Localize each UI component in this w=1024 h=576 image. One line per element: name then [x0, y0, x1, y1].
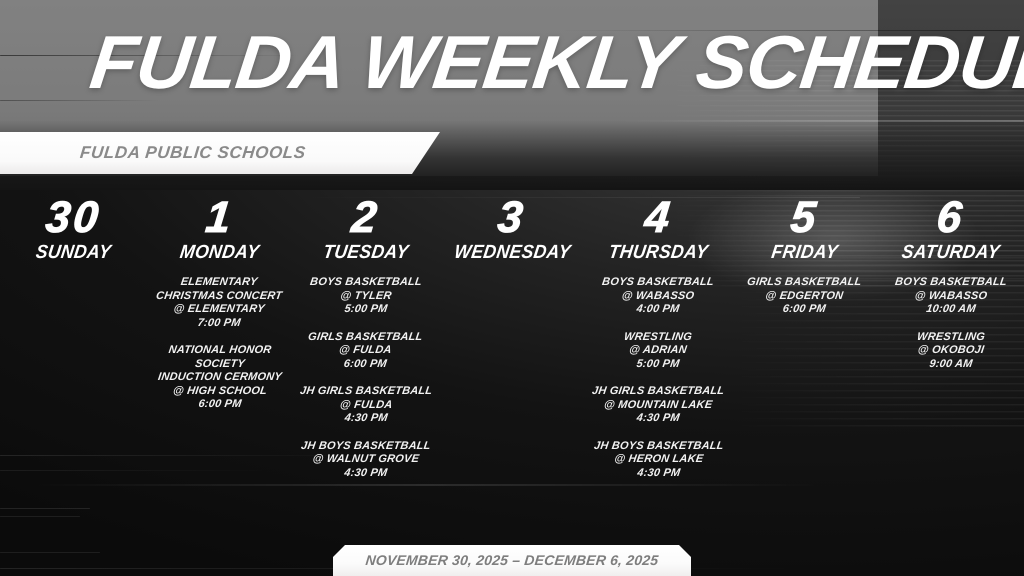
event-entry: NATIONAL HONORSOCIETYINDUCTION CERMONY@ …: [158, 344, 282, 412]
event-line: BOYS BASKETBALL: [894, 276, 1008, 290]
event-line: 6:00 PM: [157, 398, 283, 412]
event-entry: BOYS BASKETBALL@ WABASSO10:00 AM: [895, 276, 1007, 317]
event-line: @ HERON LAKE: [593, 453, 724, 467]
event-line: BOYS BASKETBALL: [309, 276, 423, 290]
event-line: 6:00 PM: [746, 303, 862, 317]
day-column-saturday: 6SATURDAYBOYS BASKETBALL@ WABASSO10:00 A…: [878, 196, 1024, 526]
event-entry: GIRLS BASKETBALL@ FULDA6:00 PM: [308, 331, 422, 372]
event-line: JH GIRLS BASKETBALL: [591, 385, 725, 399]
event-line: GIRLS BASKETBALL: [308, 331, 424, 345]
event-line: @ ADRIAN: [623, 344, 693, 358]
event-line: INDUCTION CERMONY: [157, 371, 283, 385]
day-column-monday: 1MONDAYELEMENTARYCHRISTMAS CONCERT@ ELEM…: [146, 196, 292, 526]
day-name: WEDNESDAY: [452, 242, 571, 264]
day-column-sunday: 30SUNDAY: [0, 196, 146, 526]
event-list: BOYS BASKETBALL@ WABASSO4:00 PMWRESTLING…: [589, 276, 727, 480]
event-line: @ EDGERTON: [746, 290, 862, 304]
day-number: 5: [788, 196, 820, 240]
event-line: JH BOYS BASKETBALL: [300, 440, 431, 454]
day-name: THURSDAY: [607, 242, 709, 264]
event-line: JH GIRLS BASKETBALL: [299, 385, 433, 399]
day-number: 30: [43, 196, 103, 240]
event-entry: WRESTLING@ OKOBOJI9:00 AM: [917, 331, 985, 372]
event-line: 4:30 PM: [593, 467, 724, 481]
day-number: 1: [203, 196, 235, 240]
event-list: GIRLS BASKETBALL@ EDGERTON6:00 PM: [735, 276, 873, 317]
event-line: CHRISTMAS CONCERT: [155, 290, 283, 304]
event-entry: BOYS BASKETBALL@ TYLER5:00 PM: [310, 276, 422, 317]
event-line: 4:00 PM: [601, 303, 715, 317]
event-line: @ WALNUT GROVE: [300, 453, 431, 467]
event-list: BOYS BASKETBALL@ TYLER5:00 PMGIRLS BASKE…: [297, 276, 435, 480]
event-entry: ELEMENTARYCHRISTMAS CONCERT@ ELEMENTARY7…: [156, 276, 282, 330]
day-number: 6: [935, 196, 967, 240]
event-line: WRESTLING: [916, 331, 986, 345]
event-line: GIRLS BASKETBALL: [746, 276, 862, 290]
event-line: 4:30 PM: [300, 467, 431, 481]
day-column-thursday: 4THURSDAYBOYS BASKETBALL@ WABASSO4:00 PM…: [585, 196, 731, 526]
event-line: BOYS BASKETBALL: [601, 276, 715, 290]
day-name: SATURDAY: [900, 242, 1001, 264]
event-line: 6:00 PM: [308, 358, 424, 372]
event-line: 9:00 AM: [916, 358, 986, 372]
event-line: 7:00 PM: [155, 317, 283, 331]
event-line: 10:00 AM: [894, 303, 1008, 317]
event-line: @ WABASSO: [601, 290, 715, 304]
day-column-wednesday: 3WEDNESDAY: [439, 196, 585, 526]
event-line: 4:30 PM: [591, 412, 725, 426]
subtitle-text: FULDA PUBLIC SCHOOLS: [79, 143, 307, 163]
schedule-graphic: FULDA WEEKLY SCHEDULE FULDA PUBLIC SCHOO…: [0, 0, 1024, 576]
event-entry: JH BOYS BASKETBALL@ WALNUT GROVE4:30 PM: [301, 440, 431, 481]
event-line: WRESTLING: [623, 331, 693, 345]
event-list: ELEMENTARYCHRISTMAS CONCERT@ ELEMENTARY7…: [150, 276, 288, 412]
event-line: @ FULDA: [308, 344, 424, 358]
page-title: FULDA WEEKLY SCHEDULE: [86, 22, 1024, 102]
event-line: @ ELEMENTARY: [155, 303, 283, 317]
week-grid: 30SUNDAY1MONDAYELEMENTARYCHRISTMAS CONCE…: [0, 196, 1024, 526]
day-name: MONDAY: [178, 242, 260, 264]
event-line: @ OKOBOJI: [916, 344, 986, 358]
event-line: @ WABASSO: [894, 290, 1008, 304]
event-line: @ MOUNTAIN LAKE: [591, 399, 725, 413]
event-entry: JH GIRLS BASKETBALL@ FULDA4:30 PM: [300, 385, 432, 426]
event-line: @ TYLER: [309, 290, 423, 304]
event-line: @ HIGH SCHOOL: [157, 385, 283, 399]
event-line: SOCIETY: [157, 358, 283, 372]
day-name: FRIDAY: [770, 242, 839, 264]
event-entry: GIRLS BASKETBALL@ EDGERTON6:00 PM: [747, 276, 861, 317]
day-number: 4: [642, 196, 674, 240]
event-line: JH BOYS BASKETBALL: [593, 440, 724, 454]
event-line: 5:00 PM: [309, 303, 423, 317]
event-list: BOYS BASKETBALL@ WABASSO10:00 AMWRESTLIN…: [882, 276, 1020, 371]
day-name: SUNDAY: [34, 242, 112, 264]
day-column-friday: 5FRIDAYGIRLS BASKETBALL@ EDGERTON6:00 PM: [731, 196, 877, 526]
event-entry: JH BOYS BASKETBALL@ HERON LAKE4:30 PM: [594, 440, 724, 481]
event-line: 4:30 PM: [299, 412, 433, 426]
date-range-text: NOVEMBER 30, 2025 – DECEMBER 6, 2025: [332, 552, 692, 568]
event-line: ELEMENTARY: [155, 276, 283, 290]
event-entry: WRESTLING@ ADRIAN5:00 PM: [624, 331, 692, 372]
event-entry: JH GIRLS BASKETBALL@ MOUNTAIN LAKE4:30 P…: [592, 385, 724, 426]
event-line: 5:00 PM: [623, 358, 693, 372]
day-column-tuesday: 2TUESDAYBOYS BASKETBALL@ TYLER5:00 PMGIR…: [293, 196, 439, 526]
day-name: TUESDAY: [322, 242, 410, 264]
event-line: @ FULDA: [299, 399, 433, 413]
day-number: 3: [496, 196, 528, 240]
day-number: 2: [350, 196, 382, 240]
event-line: NATIONAL HONOR: [157, 344, 283, 358]
event-entry: BOYS BASKETBALL@ WABASSO4:00 PM: [602, 276, 714, 317]
